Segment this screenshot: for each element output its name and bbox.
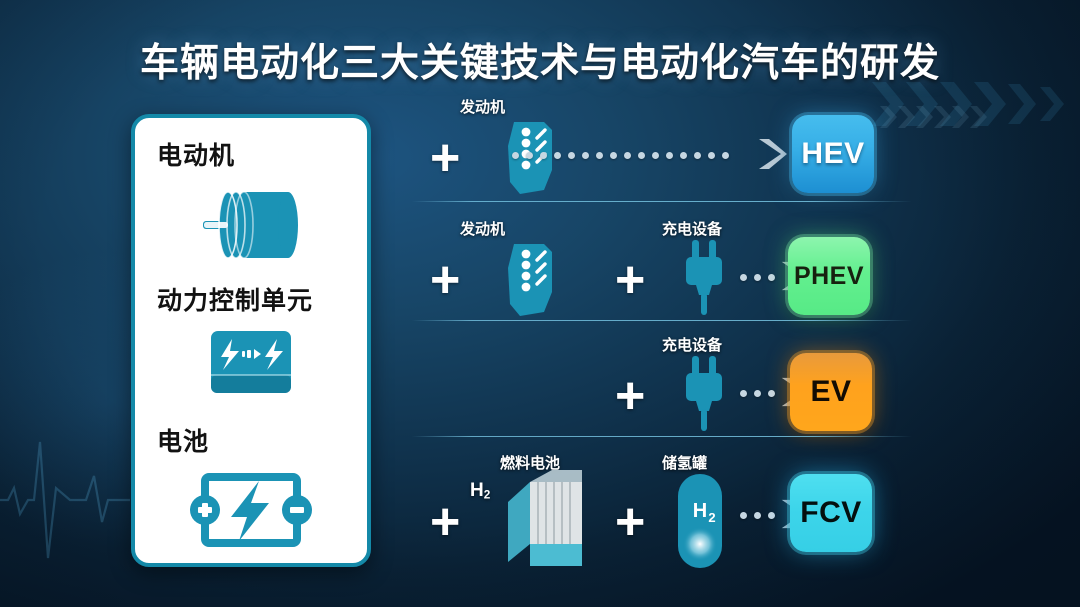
page-title: 车辆电动化三大关键技术与电动化汽车的研发 (0, 32, 1080, 88)
plus-sign-4b: + (615, 496, 645, 548)
result-chip-hev-label: HEV (801, 137, 864, 171)
flow-arrow-dots-fcv (740, 512, 775, 519)
caption-engine-2: 发动机 (460, 218, 505, 239)
result-chip-ev: EV (790, 353, 872, 431)
plus-sign-2a: + (430, 254, 460, 306)
caption-charger-2: 充电设备 (662, 218, 722, 239)
vehicle-type-rows: + 发动机 (400, 96, 940, 576)
plus-sign-4a: + (430, 496, 460, 548)
row-hev: + 发动机 (400, 96, 940, 214)
result-chip-ev-label: EV (810, 375, 851, 409)
card-item-label-pcu: 动力控制单元 (157, 281, 313, 317)
electric-motor-icon (135, 172, 367, 273)
row-fcv: + 燃料电池 H2 O2 (400, 452, 940, 570)
caption-engine-1: 发动机 (460, 96, 505, 117)
plus-sign-3: + (615, 370, 645, 422)
row-phev: + 发动机 + (400, 218, 940, 336)
flow-arrow-dots-ev (740, 390, 775, 397)
charging-plug-icon (676, 356, 732, 437)
hydrogen-tank-icon: H 2 (672, 472, 728, 577)
slide-canvas: 车辆电动化三大关键技术与电动化汽车的研发 电动机 动力控制单元 (0, 0, 1080, 607)
result-chip-fcv: FCV (790, 474, 872, 552)
row-divider-3 (412, 436, 912, 437)
card-item-label-battery: 电池 (157, 422, 209, 458)
caption-hydrogen-tank: 储氢罐 (662, 452, 707, 473)
svg-text:H: H (693, 500, 707, 522)
result-chip-hev: HEV (792, 115, 874, 193)
plus-sign-2b: + (615, 254, 645, 306)
engine-icon (500, 238, 560, 327)
gas-label-h2-in: H2 (470, 480, 490, 502)
result-chip-phev: PHEV (788, 237, 870, 315)
caption-charger-3: 充电设备 (662, 334, 722, 355)
row-divider-1 (412, 201, 912, 202)
result-chip-fcv-label: FCV (800, 496, 862, 530)
svg-text:2: 2 (708, 510, 715, 525)
card-item-label-motor: 电动机 (157, 136, 235, 172)
plus-sign-1: + (430, 132, 460, 184)
battery-icon (135, 458, 367, 563)
key-technologies-card: 电动机 动力控制单元 (131, 114, 371, 567)
row-divider-2 (412, 320, 912, 321)
charging-plug-icon (676, 240, 732, 321)
fuel-cell-stack-icon (496, 470, 598, 575)
engine-icon (500, 116, 560, 205)
flow-arrow-dots-hev (512, 152, 729, 159)
arrowhead-icon-hev (755, 135, 791, 173)
row-ev: + 充电设备 EV (400, 334, 940, 452)
flow-arrow-dots-phev (740, 274, 775, 281)
power-control-unit-icon (135, 317, 367, 418)
result-chip-phev-label: PHEV (794, 262, 864, 291)
